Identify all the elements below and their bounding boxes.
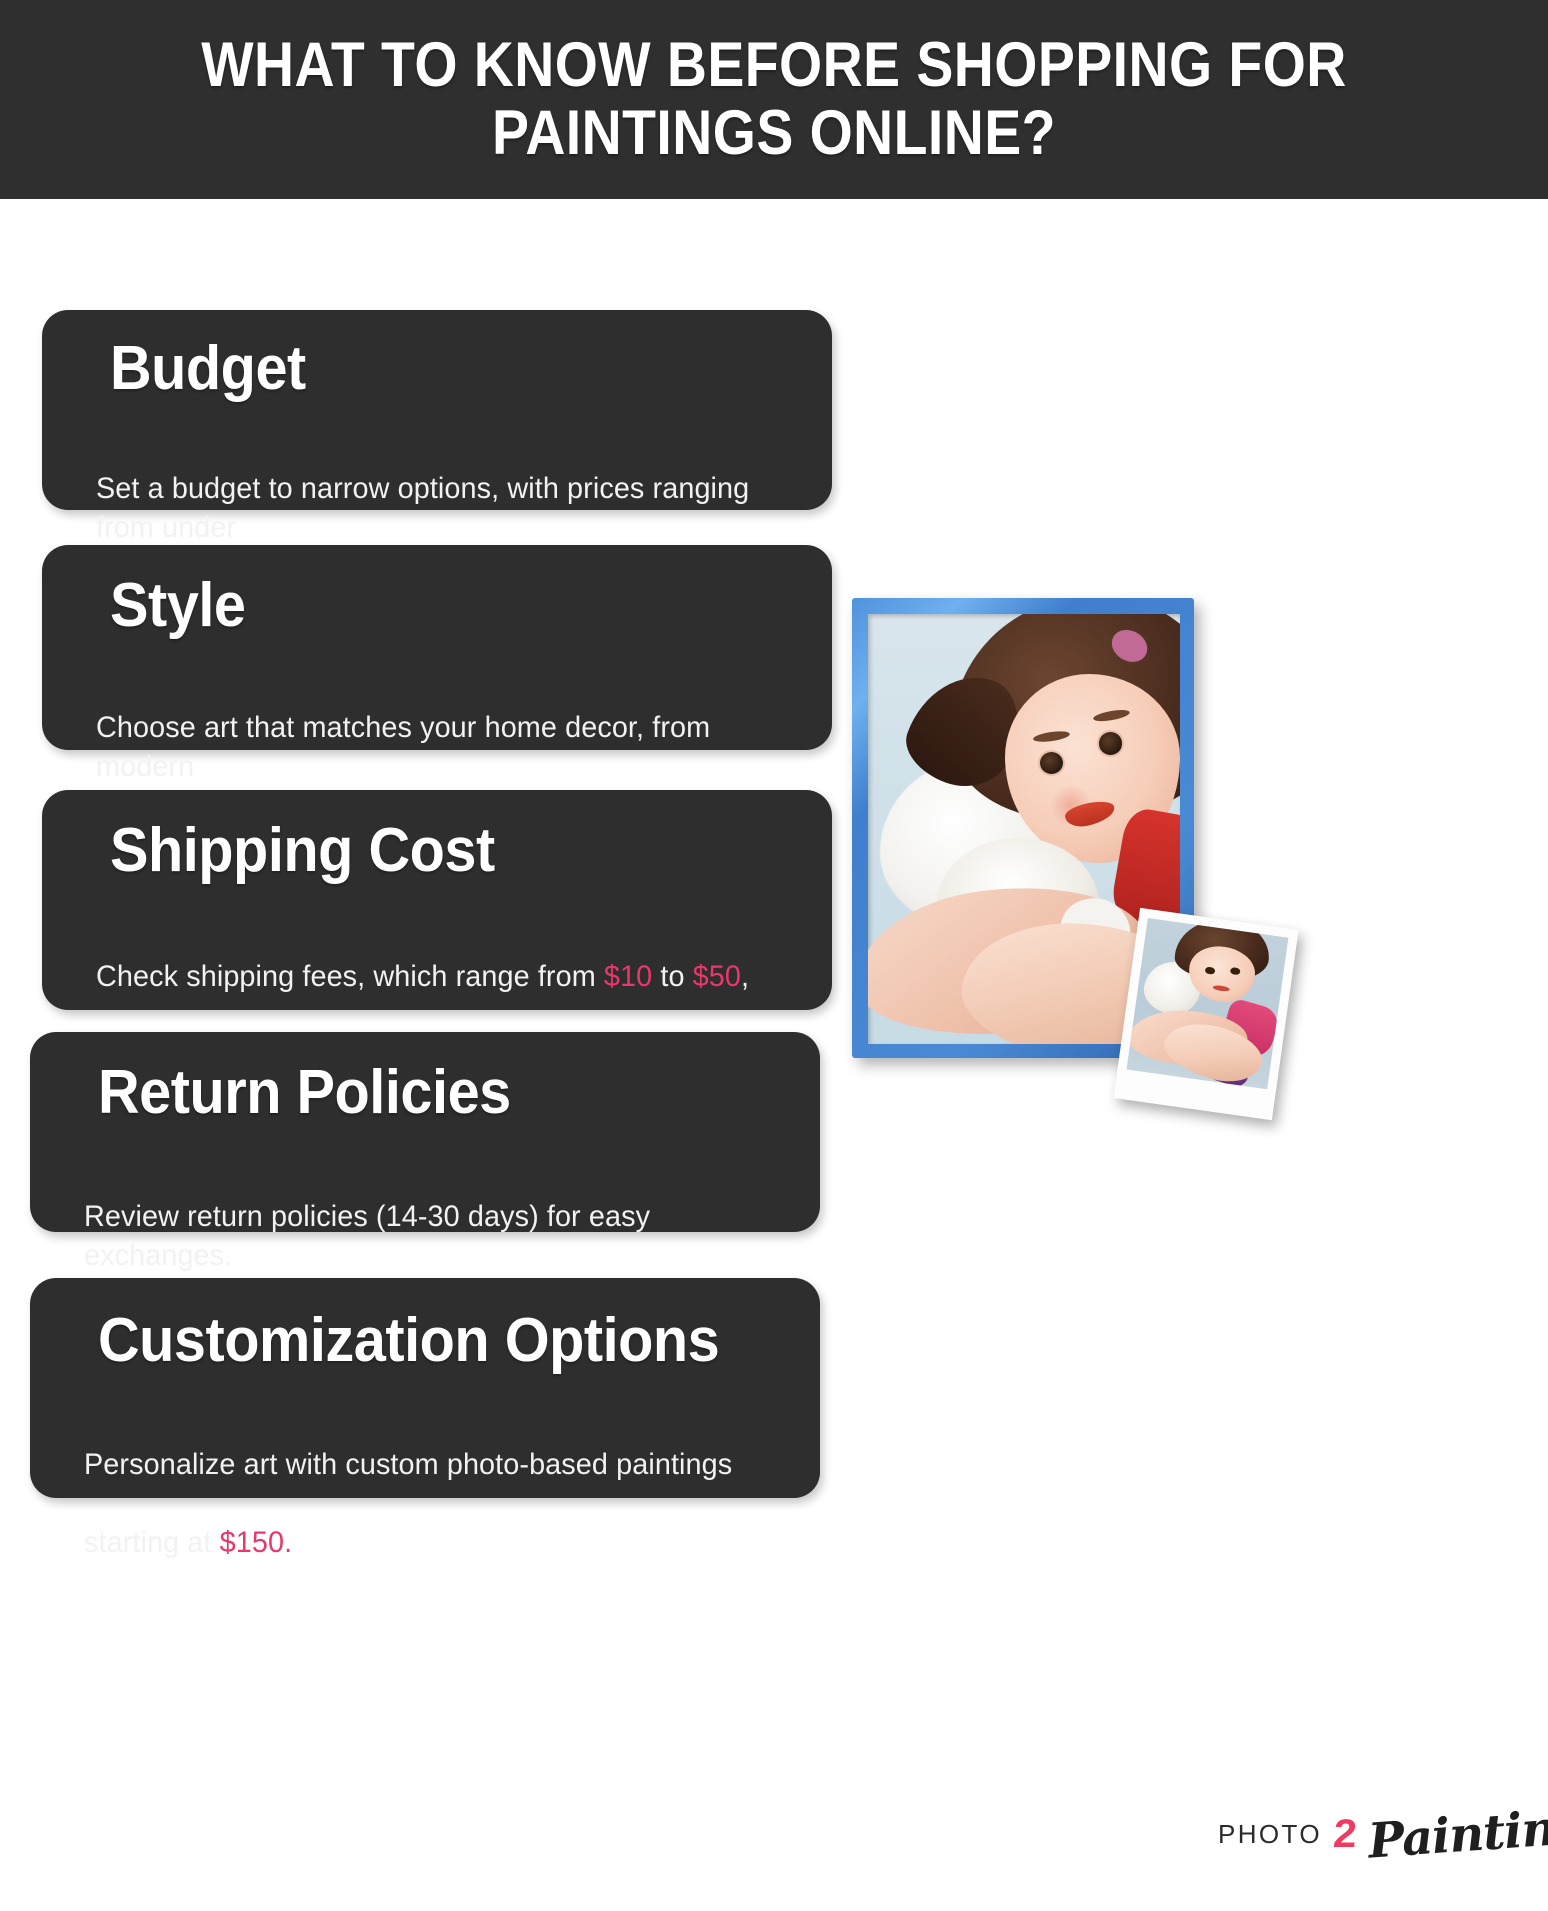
card-body-text: Personalize art with custom photo-based … — [84, 1448, 732, 1481]
card-title-budget: Budget — [110, 338, 744, 400]
card-body-text-2: starting at — [84, 1526, 220, 1559]
card-title-shipping-cost: Shipping Cost — [110, 820, 744, 882]
card-title-customization-options: Customization Options — [98, 1310, 732, 1372]
price-highlight-high: $50 — [693, 960, 741, 993]
info-card-style[interactable]: Style Choose art that matches your home … — [42, 545, 832, 750]
logo-word-photo: PHOTO — [1218, 1819, 1322, 1850]
info-card-customization-options[interactable]: Customization Options Personalize art wi… — [30, 1278, 820, 1498]
card-body-text: Set a budget to narrow options, with pri… — [96, 472, 749, 544]
price-highlight-low: $10 — [604, 960, 652, 993]
card-body-customization-options: Personalize art with custom photo-based … — [84, 1406, 752, 1562]
polaroid-image — [1127, 918, 1289, 1089]
header-banner: WHAT TO KNOW BEFORE SHOPPING FOR PAINTIN… — [0, 0, 1548, 199]
infographic-page: WHAT TO KNOW BEFORE SHOPPING FOR PAINTIN… — [0, 0, 1548, 1911]
page-title: WHAT TO KNOW BEFORE SHOPPING FOR PAINTIN… — [123, 32, 1425, 167]
logo-numeral-two: 2 — [1332, 1814, 1358, 1854]
logo-word-painting: Painting — [1367, 1802, 1548, 1865]
price-highlight: $150. — [220, 1526, 293, 1559]
polaroid-photo — [1113, 908, 1298, 1120]
brand-logo[interactable]: PHOTO 2 Painting — [1218, 1810, 1548, 1858]
card-title-style: Style — [110, 575, 744, 637]
card-title-return-policies: Return Policies — [98, 1062, 732, 1124]
child-eye-left-shape — [1040, 752, 1063, 774]
card-body-text-comma: , — [741, 960, 749, 993]
info-card-shipping-cost[interactable]: Shipping Cost Check shipping fees, which… — [42, 790, 832, 1010]
card-body-text: Check shipping fees, which range from — [96, 960, 604, 993]
card-body-text: Review return policies (14-30 days) for … — [84, 1200, 650, 1272]
child-eye-right-shape — [1099, 732, 1122, 754]
card-body-text-mid: to — [652, 960, 692, 993]
info-card-budget[interactable]: Budget Set a budget to narrow options, w… — [42, 310, 832, 510]
card-body-return-policies: Review return policies (14-30 days) for … — [84, 1158, 752, 1275]
card-body-text: Choose art that matches your home decor,… — [96, 711, 710, 783]
info-card-return-policies[interactable]: Return Policies Review return policies (… — [30, 1032, 820, 1232]
